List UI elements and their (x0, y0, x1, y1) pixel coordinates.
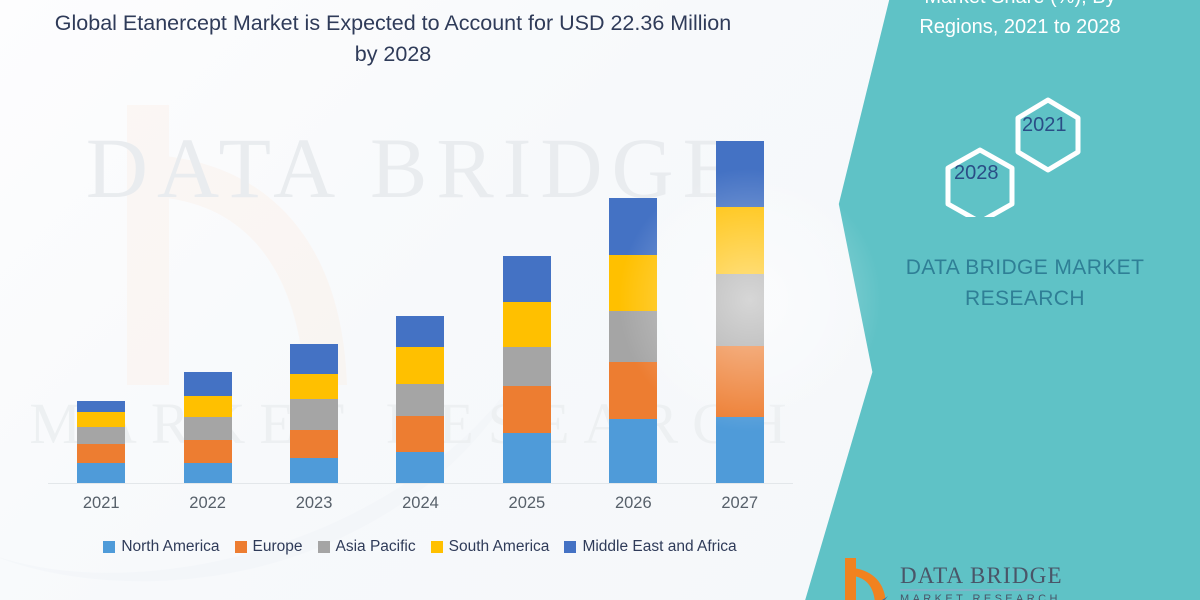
bridge-b-logo-icon (842, 556, 888, 600)
panel-title-line1: Market Share (%), By (850, 0, 1190, 12)
bar-segment (77, 427, 125, 444)
hex-label-2021: 2021 (1022, 114, 1067, 137)
bar-segment (503, 386, 551, 432)
hexagon-outline-icons (918, 92, 1118, 217)
legend-item[interactable]: Middle East and Africa (564, 538, 736, 556)
bar-segment (609, 419, 657, 483)
stacked-bar (77, 401, 125, 483)
stacked-bar (290, 344, 338, 483)
chart-title: Global Etanercept Market is Expected to … (48, 8, 738, 70)
bar-segment (396, 384, 444, 416)
legend-label: Europe (253, 538, 303, 556)
bar-column (155, 120, 260, 483)
legend-swatch-icon (235, 541, 247, 553)
bar-column (49, 120, 154, 483)
bar-segment (609, 311, 657, 362)
data-bridge-logo: DATA BRIDGE MARKET RESEARCH (842, 556, 1172, 600)
bar-segment (290, 458, 338, 483)
bar-segment (77, 401, 125, 412)
bar-segment (396, 347, 444, 384)
bar-segment (716, 346, 764, 418)
legend-label: North America (121, 538, 219, 556)
bar-segment (396, 316, 444, 347)
x-axis-tick-label: 2023 (262, 494, 367, 513)
legend-item[interactable]: North America (103, 538, 219, 556)
bar-segment (503, 302, 551, 347)
legend-label: Asia Pacific (336, 538, 416, 556)
panel-brand-text: DATA BRIDGE MARKET RESEARCH (860, 252, 1190, 314)
bar-column (581, 120, 686, 483)
legend-label: South America (449, 538, 550, 556)
stacked-bar (184, 372, 232, 483)
panel-title: Market Share (%), By Regions, 2021 to 20… (850, 0, 1190, 42)
bar-segment (716, 207, 764, 275)
x-axis-tick-label: 2021 (49, 494, 154, 513)
logo-text: DATA BRIDGE MARKET RESEARCH (900, 556, 1063, 600)
bar-segment (396, 416, 444, 451)
bar-segment (77, 412, 125, 426)
bar-segment (716, 417, 764, 483)
stacked-bar (396, 316, 444, 483)
bar-segment (503, 256, 551, 301)
x-axis-tick-label: 2022 (155, 494, 260, 513)
bar-segment (290, 344, 338, 374)
stacked-bar (503, 256, 551, 483)
bar-segment (184, 417, 232, 439)
bar-segment (184, 440, 232, 463)
logo-divider (900, 589, 1042, 591)
hexagon-badges: 2021 2028 (918, 92, 1118, 217)
stacked-bar (716, 141, 764, 483)
bar-segment (290, 374, 338, 399)
stacked-bar-chart (48, 120, 793, 483)
legend-item[interactable]: Asia Pacific (318, 538, 416, 556)
panel-brand-line2: RESEARCH (860, 283, 1190, 314)
bar-segment (290, 430, 338, 458)
bar-segment (184, 372, 232, 396)
x-axis-tick-label: 2024 (368, 494, 473, 513)
bar-segment (609, 362, 657, 419)
bar-segment (609, 255, 657, 310)
legend-label: Middle East and Africa (582, 538, 736, 556)
x-axis-tick-label: 2025 (474, 494, 579, 513)
bar-segment (77, 444, 125, 463)
panel-brand-line1: DATA BRIDGE MARKET (860, 252, 1190, 283)
bar-segment (184, 396, 232, 417)
bar-segment (77, 463, 125, 483)
logo-subtitle: MARKET RESEARCH (900, 593, 1063, 600)
x-axis-line (48, 483, 793, 484)
legend-swatch-icon (564, 541, 576, 553)
x-axis-labels: 2021202220232024202520262027 (48, 494, 793, 513)
bar-column (474, 120, 579, 483)
legend-item[interactable]: Europe (235, 538, 303, 556)
logo-title: DATA BRIDGE (900, 564, 1063, 588)
bar-segment (503, 433, 551, 483)
stacked-bar (609, 198, 657, 483)
legend-item[interactable]: South America (431, 538, 550, 556)
bar-segment (184, 463, 232, 483)
bar-segment (716, 141, 764, 207)
legend-swatch-icon (318, 541, 330, 553)
hex-label-2028: 2028 (954, 162, 999, 185)
bar-column (368, 120, 473, 483)
x-axis-tick-label: 2027 (687, 494, 792, 513)
bar-column (262, 120, 367, 483)
bar-column (687, 120, 792, 483)
legend-swatch-icon (103, 541, 115, 553)
panel-title-line2: Regions, 2021 to 2028 (850, 12, 1190, 42)
bar-segment (716, 274, 764, 346)
bar-segment (396, 452, 444, 483)
bar-segment (503, 347, 551, 386)
bar-segment (609, 198, 657, 255)
chart-legend: North AmericaEuropeAsia PacificSouth Ame… (40, 538, 800, 556)
bar-segment (290, 399, 338, 429)
x-axis-tick-label: 2026 (581, 494, 686, 513)
legend-swatch-icon (431, 541, 443, 553)
infographic-root: DATA BRIDGE MARKET RESEARCH Global Etane… (0, 0, 1200, 600)
